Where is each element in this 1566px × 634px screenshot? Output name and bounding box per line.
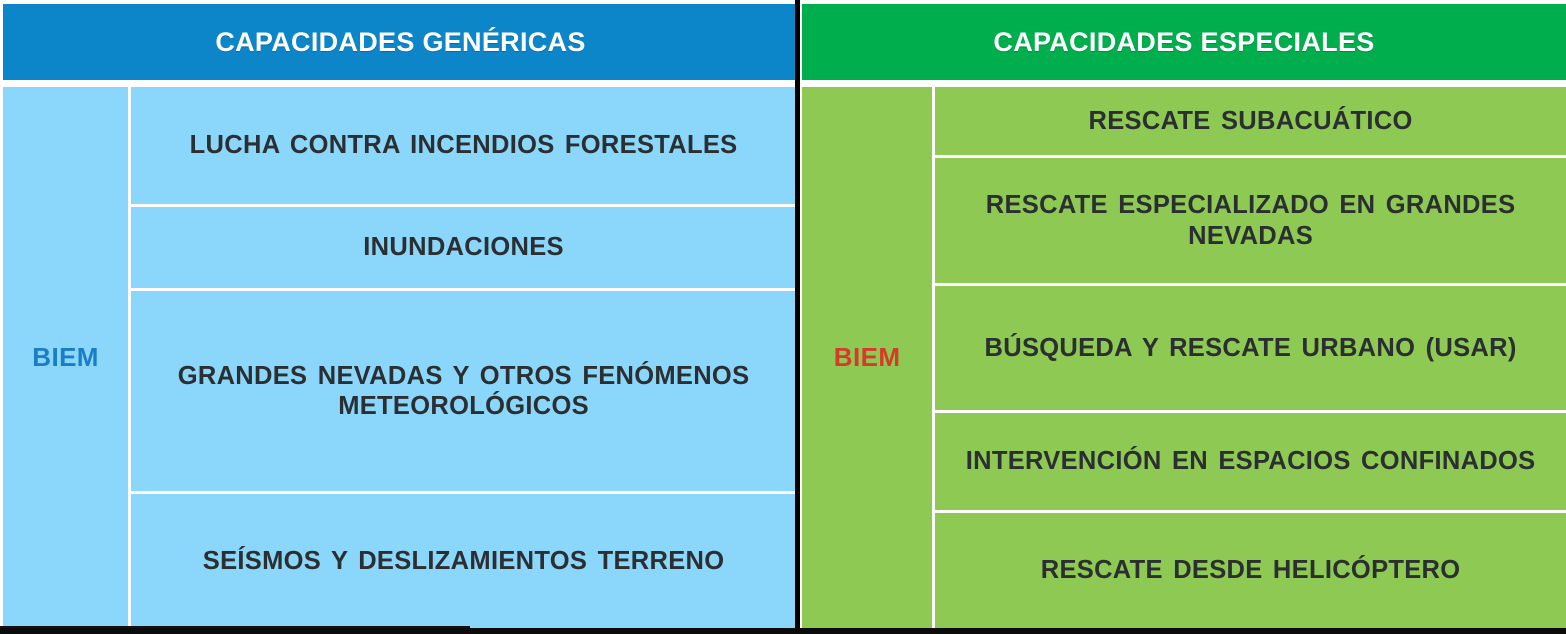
capacidades-genericas-body: BIEM LUCHA CONTRA INCENDIOS FORESTALES I…: [3, 80, 796, 628]
capacidades-especiales-table: CAPACIDADES ESPECIALES BIEM RESCATE SUBA…: [802, 4, 1566, 628]
table-row: RESCATE DESDE HELICÓPTERO: [935, 510, 1566, 628]
table-separator-divider: [795, 0, 800, 634]
bottom-frame-edge: [0, 628, 1566, 634]
table-row: INUNDACIONES: [131, 204, 796, 288]
capacidades-genericas-row-list: LUCHA CONTRA INCENDIOS FORESTALES INUNDA…: [131, 87, 796, 628]
capacidades-genericas-unit-biem: BIEM: [3, 87, 131, 628]
table-row: RESCATE SUBACUÁTICO: [935, 87, 1566, 155]
capacidades-especiales-row-list: RESCATE SUBACUÁTICO RESCATE ESPECIALIZAD…: [935, 87, 1566, 628]
table-row: BÚSQUEDA Y RESCATE URBANO (USAR): [935, 283, 1566, 410]
table-row: GRANDES NEVADAS Y OTROS FENÓMENOS METEOR…: [131, 288, 796, 491]
capacidades-genericas-header: CAPACIDADES GENÉRICAS: [3, 4, 796, 80]
capacidades-especiales-unit-biem: BIEM: [802, 87, 935, 628]
capacidades-especiales-body: BIEM RESCATE SUBACUÁTICO RESCATE ESPECIA…: [802, 80, 1566, 628]
capacidades-genericas-table: CAPACIDADES GENÉRICAS BIEM LUCHA CONTRA …: [3, 4, 796, 628]
capabilities-comparison-slide: CAPACIDADES GENÉRICAS BIEM LUCHA CONTRA …: [0, 0, 1566, 634]
table-row: LUCHA CONTRA INCENDIOS FORESTALES: [131, 87, 796, 204]
capacidades-especiales-header: CAPACIDADES ESPECIALES: [802, 4, 1566, 80]
table-row: RESCATE ESPECIALIZADO EN GRANDES NEVADAS: [935, 155, 1566, 283]
table-row: SEÍSMOS Y DESLIZAMIENTOS TERRENO: [131, 491, 796, 628]
table-row: INTERVENCIÓN EN ESPACIOS CONFINADOS: [935, 410, 1566, 510]
